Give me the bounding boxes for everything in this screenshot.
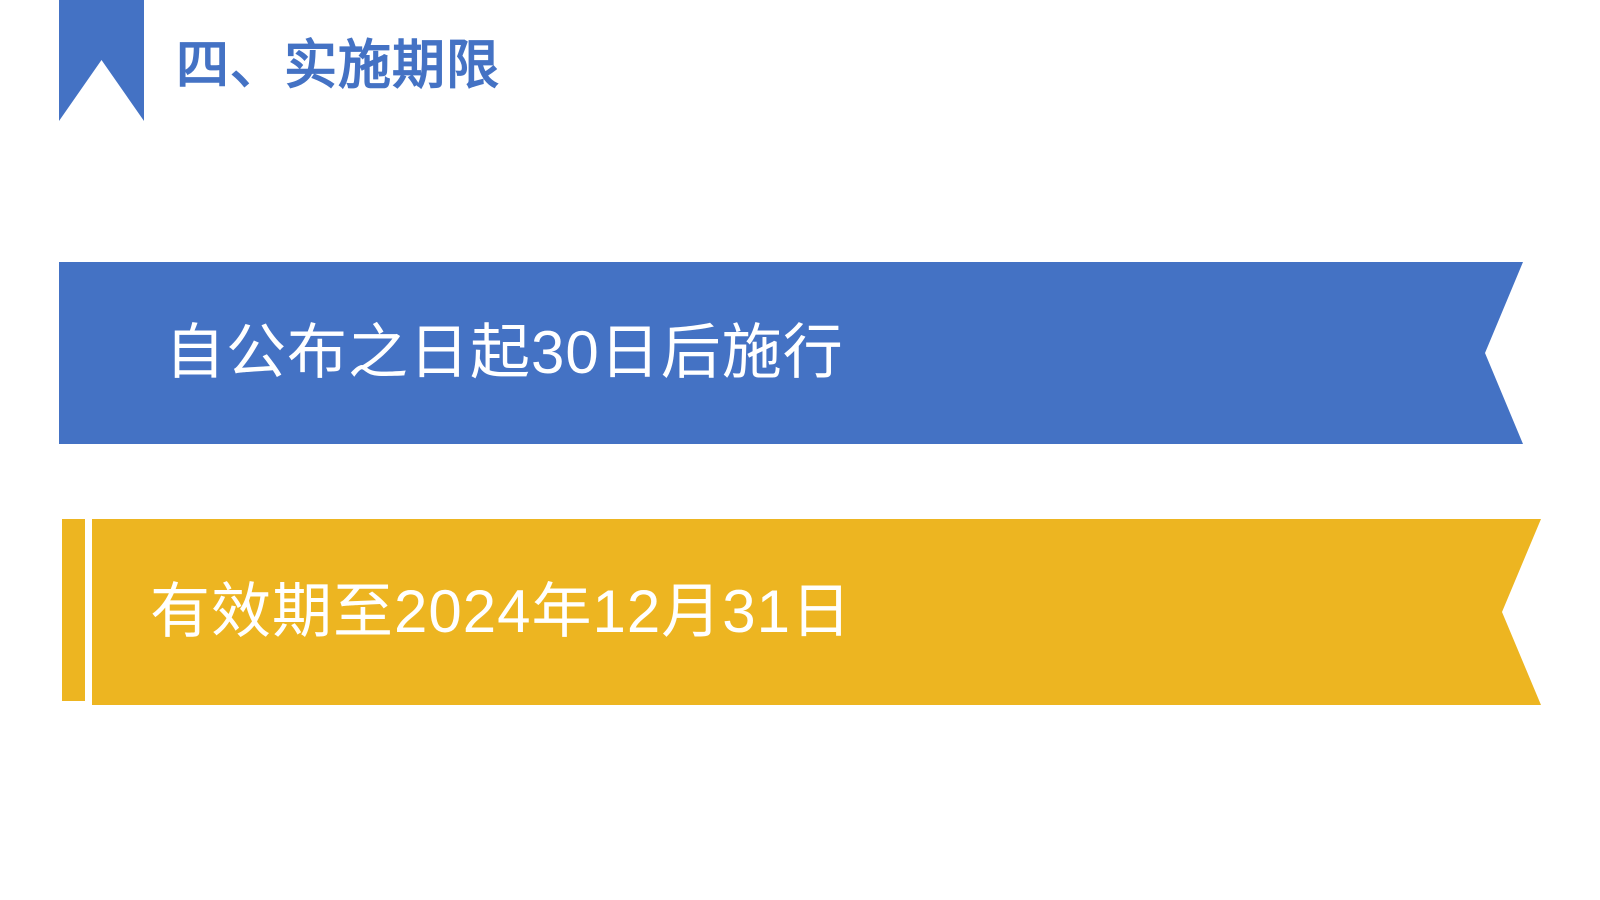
- banner-expiry-date: 有效期至2024年12月31日: [92, 519, 1541, 705]
- banner-expiry-date-label: 有效期至2024年12月31日: [150, 519, 852, 705]
- banner-effective-date-label: 自公布之日起30日后施行: [165, 262, 844, 444]
- accent-bar-expiry-date: [62, 519, 85, 701]
- bookmark-icon: [59, 0, 144, 121]
- section-header: 四、实施期限: [0, 0, 1600, 140]
- banner-effective-date: 自公布之日起30日后施行: [59, 262, 1523, 444]
- slide-canvas: 四、实施期限 自公布之日起30日后施行 有效期至2024年12月31日: [0, 0, 1600, 900]
- page-title: 四、实施期限: [176, 30, 500, 102]
